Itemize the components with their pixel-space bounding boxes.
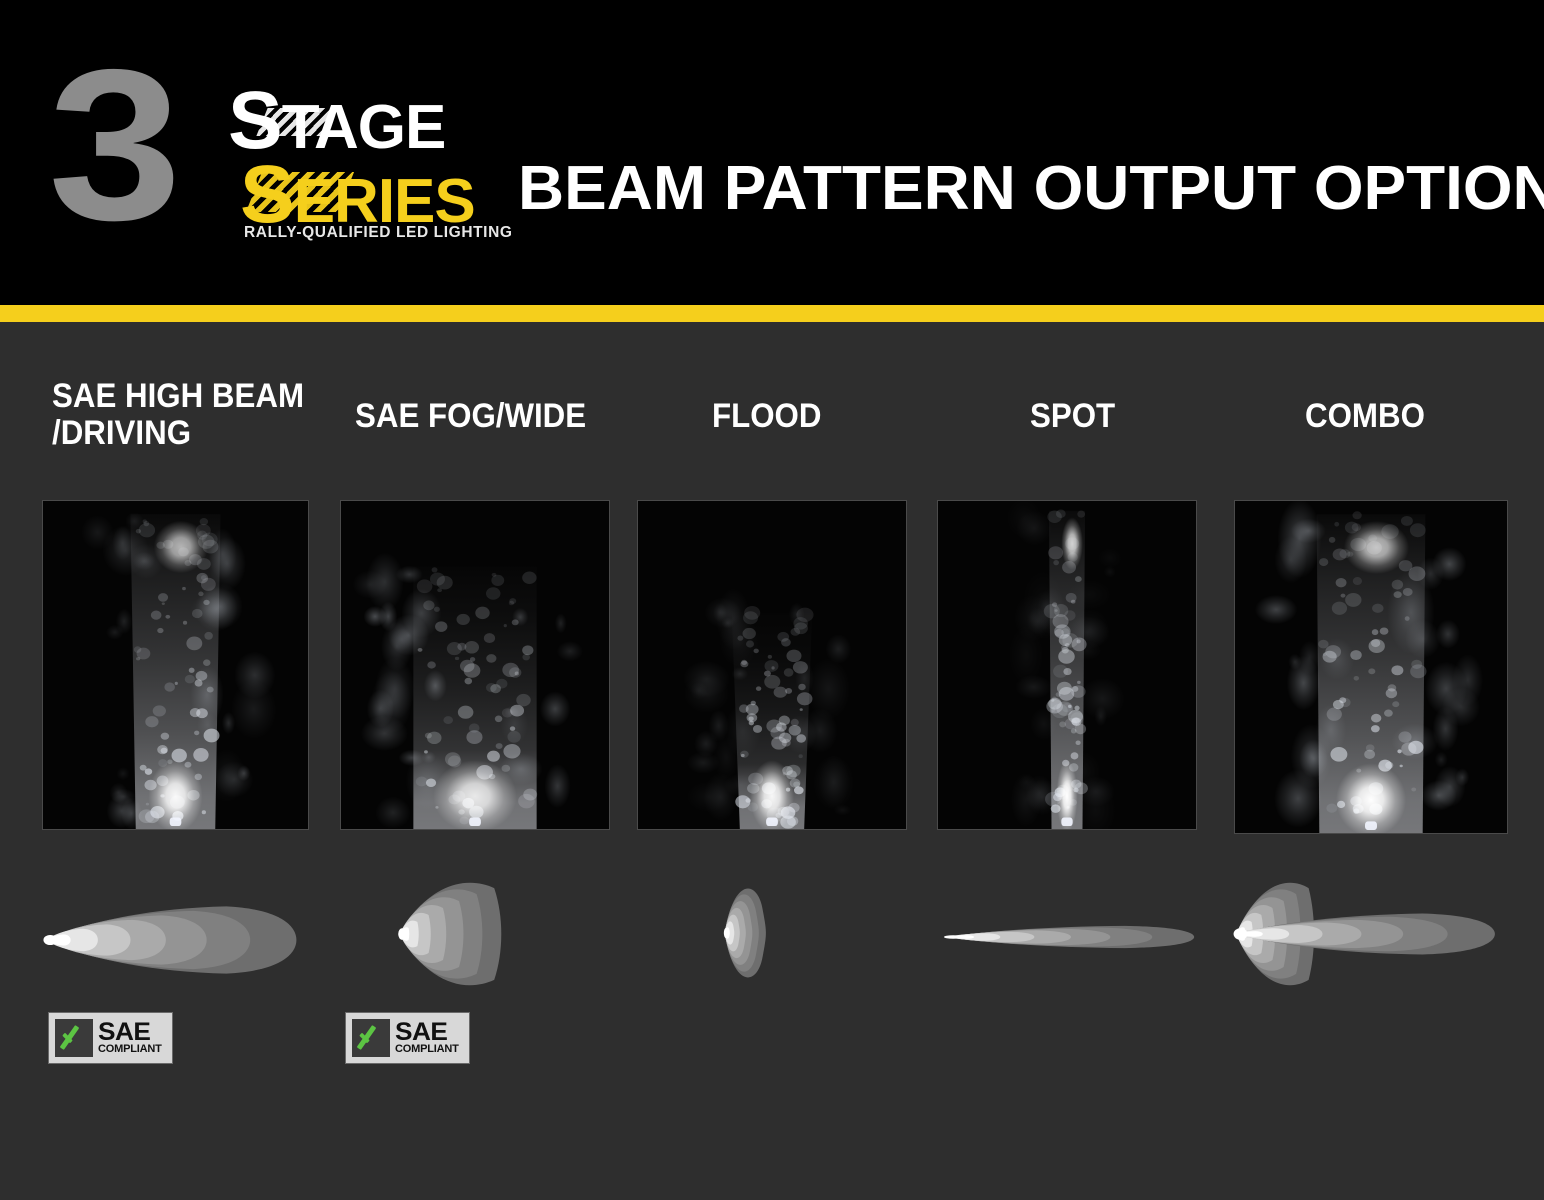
column-header-flood: FLOOD <box>712 398 821 435</box>
column-header-spot: SPOT <box>1030 398 1115 435</box>
accent-divider-bar <box>0 305 1544 322</box>
night-beam-photograph <box>1235 501 1507 833</box>
night-beam-photograph <box>638 501 906 829</box>
beam-diagram-sae-high-beam-driving <box>38 884 310 996</box>
column-header-sae-fog-wide: SAE FOG/WIDE <box>355 398 586 435</box>
night-beam-photograph <box>341 501 609 829</box>
beam-photo-sae-high-beam-driving <box>42 500 309 830</box>
page-title: BEAM PATTERN OUTPUT OPTIONS <box>518 150 1544 230</box>
beam-diagram-combo <box>1228 870 1506 998</box>
beam-shape-diagram <box>38 884 310 996</box>
green-check-icon <box>55 1019 93 1057</box>
badge-text-block: SAECOMPLIANT <box>97 1021 172 1055</box>
beam-diagram-spot <box>940 900 1202 974</box>
sae-compliant-badge-sae-fog-wide: SAECOMPLIANT <box>345 1012 470 1064</box>
column-header-sae-high-beam-driving: SAE HIGH BEAM /DRIVING <box>52 378 304 451</box>
beam-photo-combo <box>1234 500 1508 834</box>
beam-shape-diagram <box>395 870 555 998</box>
beam-shape-diagram <box>722 874 814 992</box>
beam-photo-spot <box>937 500 1197 830</box>
stage-series-logo: 3 STAGE SERIES RALLY-QUALIFIED LED LIGHT… <box>48 52 478 242</box>
night-beam-photograph <box>938 501 1196 829</box>
beam-pattern-infographic: 3 STAGE SERIES RALLY-QUALIFIED LED LIGHT… <box>0 0 1544 1200</box>
sae-compliant-badge-sae-high-beam-driving: SAECOMPLIANT <box>48 1012 173 1064</box>
night-beam-photograph <box>43 501 308 829</box>
badge-text-block: SAECOMPLIANT <box>394 1021 469 1055</box>
columns-area: SAE HIGH BEAM /DRIVINGSAECOMPLIANTSAE FO… <box>0 322 1544 1200</box>
header-bar: 3 STAGE SERIES RALLY-QUALIFIED LED LIGHT… <box>0 0 1544 305</box>
beam-photo-sae-fog-wide <box>340 500 610 830</box>
column-header-combo: COMBO <box>1305 398 1425 435</box>
beam-shape-diagram <box>940 900 1202 974</box>
beam-photo-flood <box>637 500 907 830</box>
beam-diagram-flood <box>722 874 814 992</box>
badge-sae-label: SAE <box>395 1021 473 1043</box>
beam-diagram-sae-fog-wide <box>395 870 555 998</box>
badge-sae-label: SAE <box>98 1021 176 1043</box>
logo-tagline: RALLY-QUALIFIED LED LIGHTING <box>244 224 513 242</box>
logo-numeral-3: 3 <box>48 52 258 242</box>
green-check-icon <box>352 1019 390 1057</box>
beam-shape-diagram <box>1228 870 1506 998</box>
